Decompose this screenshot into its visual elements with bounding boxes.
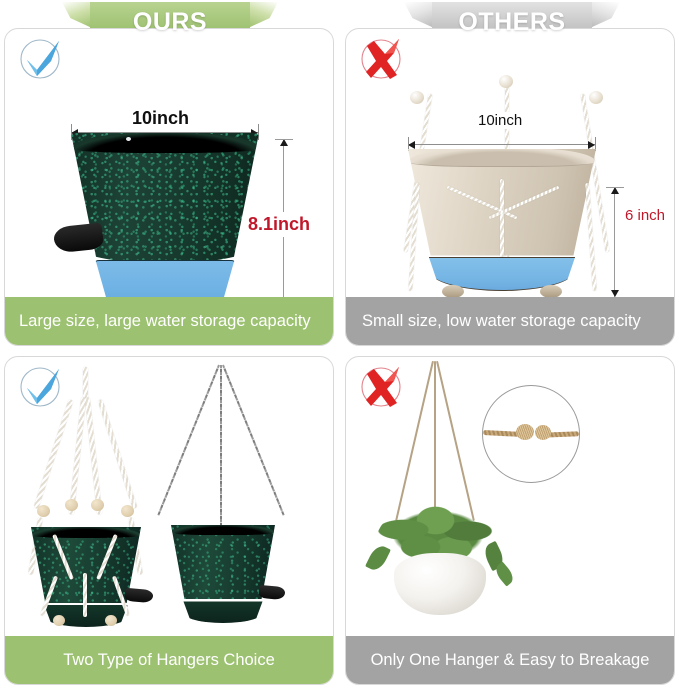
panel-others-size-stage: 10inch 6 inch xyxy=(346,29,674,297)
x-icon xyxy=(354,363,408,411)
macrame-rope xyxy=(83,367,88,401)
dimension-arrow-width xyxy=(408,144,595,145)
pot-water-spout xyxy=(259,585,286,600)
pot-foot xyxy=(540,285,563,297)
dimension-cap-top xyxy=(275,139,293,140)
rope-fray-right xyxy=(535,425,551,440)
dimension-label-height: 8.1inch xyxy=(245,212,313,237)
pot-rim xyxy=(408,148,596,167)
pot-base xyxy=(183,601,262,623)
metal-chain xyxy=(222,365,285,516)
panel-ours-size: 10inch 8.1inch Large size, large water s… xyxy=(4,28,334,346)
product-pot-chain xyxy=(171,525,275,623)
banner-label-others: OTHERS xyxy=(458,8,565,37)
panel-ours-size-stage: 10inch 8.1inch xyxy=(5,29,333,297)
x-icon xyxy=(354,35,408,83)
ribbon-tail-left xyxy=(62,2,92,28)
dimension-label-height: 6 inch xyxy=(622,205,668,226)
macrame-bead xyxy=(37,505,50,517)
plant-leaf xyxy=(365,543,391,573)
ribbon-tail-right xyxy=(590,2,620,28)
product-pot-others xyxy=(408,149,596,297)
panel-ours-hangers-stage xyxy=(5,357,333,636)
pot-water-reservoir xyxy=(95,260,234,297)
dimension-cap-top xyxy=(606,187,624,188)
comparison-grid: OURS OTHERS 10inch xyxy=(0,0,679,689)
macrame-rope-wrap xyxy=(408,183,420,291)
macrame-bead xyxy=(53,615,65,626)
inset-broken-rope xyxy=(482,385,580,483)
panel-others-size: 10inch 6 inch xyxy=(345,28,675,346)
pot-rim xyxy=(31,527,141,538)
macrame-bead xyxy=(589,91,603,104)
banner-label-ours: OURS xyxy=(133,8,207,37)
caption-others-size: Small size, low water storage capacity xyxy=(346,297,674,345)
panel-others-hangers: Only One Hanger & Easy to Breakage xyxy=(345,356,675,685)
macrame-bead xyxy=(91,499,104,511)
dimension-label-width: 10inch xyxy=(127,108,194,129)
panel-others-hangers-stage xyxy=(346,357,674,636)
macrame-rope-wrap xyxy=(585,183,597,291)
panel-ours-hangers: Two Type of Hangers Choice xyxy=(4,356,334,685)
caption-ours-size: Large size, large water storage capacity xyxy=(5,297,333,345)
ribbon-tail-left xyxy=(404,2,434,28)
macrame-net xyxy=(83,573,87,617)
metal-chain xyxy=(220,365,222,531)
plant-leaf xyxy=(492,561,516,586)
check-icon xyxy=(13,363,67,411)
macrame-rope xyxy=(69,397,86,515)
macrame-bead xyxy=(121,505,134,517)
macrame-bead xyxy=(105,615,117,626)
macrame-bead xyxy=(499,75,513,88)
check-icon xyxy=(13,35,67,83)
pot-drain-hole xyxy=(126,137,131,141)
rope-cord xyxy=(436,361,475,521)
macrame-rope xyxy=(98,399,138,509)
metal-chain xyxy=(157,365,220,516)
pot-rim xyxy=(171,525,275,535)
dimension-arrow-height xyxy=(614,187,615,297)
rope-fray-left xyxy=(516,424,534,440)
macrame-rope xyxy=(85,397,102,515)
caption-others-hangers: Only One Hanger & Easy to Breakage xyxy=(346,636,674,684)
pot-rim xyxy=(71,133,259,153)
macrame-rope xyxy=(34,399,74,509)
macrame-bead xyxy=(65,499,78,511)
macrame-bead xyxy=(410,91,424,104)
macrame-rope-wrap xyxy=(500,179,504,257)
pot-water-spout xyxy=(124,588,153,603)
pot-foot xyxy=(442,285,465,297)
caption-ours-hangers: Two Type of Hangers Choice xyxy=(5,636,333,684)
product-pot-macrame xyxy=(31,527,141,627)
dimension-label-width: 10inch xyxy=(473,112,527,129)
ribbon-tail-right xyxy=(248,2,278,28)
product-pot-white xyxy=(394,553,486,615)
product-pot-ours xyxy=(71,133,259,297)
